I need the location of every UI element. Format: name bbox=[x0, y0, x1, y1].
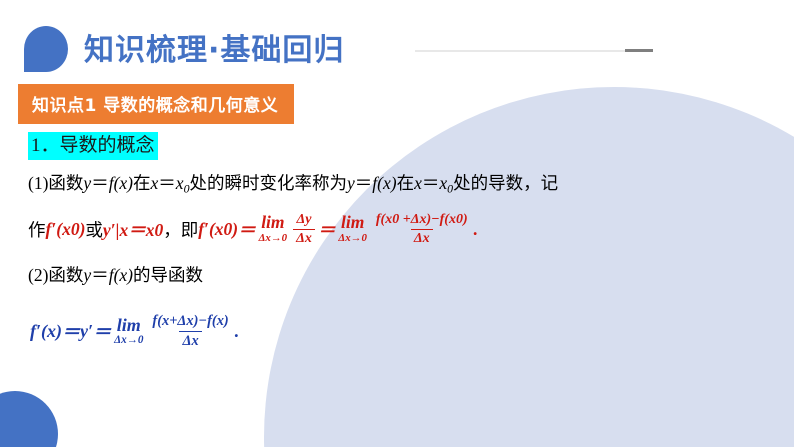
formula-blue-fraction: f(x+Δx)−f(x) Δx bbox=[149, 313, 231, 348]
item1-var-x2: x bbox=[414, 173, 422, 193]
definition-paragraph-1: (1)函数y＝f(x)在x＝x0处的瞬时变化率称为y＝f(x)在x＝x0处的导数… bbox=[28, 170, 794, 198]
page-title: 知识梳理·基础回归 bbox=[84, 25, 344, 69]
formula-red-frac1-den: Δx bbox=[293, 229, 315, 247]
teardrop-bullet-icon bbox=[24, 26, 68, 72]
slide-canvas: 知识梳理·基础回归 知识点1 导数的概念和几何意义 1．导数的概念 (1)函数y… bbox=[0, 0, 794, 447]
formula-blue-frac-num: f(x+Δx)−f(x) bbox=[149, 313, 231, 330]
formula-blue-line: f′(x) ＝ y′ ＝ lim Δx→0 f(x+Δx)−f(x) Δx . bbox=[30, 313, 794, 348]
formula-red-lim-sub-1: Δx→0 bbox=[259, 233, 288, 244]
formula-red-lim-sub-2: Δx→0 bbox=[338, 233, 367, 244]
item1-fn-y2: y bbox=[347, 173, 355, 193]
item1-eq2: ＝ bbox=[158, 173, 176, 193]
formula-red-fraction-1: Δy Δx bbox=[293, 212, 315, 246]
item2-eq1: ＝ bbox=[91, 265, 109, 285]
topic-banner: 知识点1 导数的概念和几何意义 bbox=[18, 84, 294, 124]
item1-eq1: ＝ bbox=[91, 173, 109, 193]
formula-blue-equals-2: ＝ bbox=[93, 318, 111, 344]
item1-var-x0: x bbox=[176, 173, 184, 193]
formula-red-equals: ＝ bbox=[238, 217, 256, 242]
formula-red-lim-op-1: lim bbox=[261, 214, 284, 232]
item2-text-b: 的导函数 bbox=[133, 266, 203, 286]
formula-blue-lim-op: lim bbox=[117, 316, 141, 334]
formula-red-period: . bbox=[474, 219, 478, 240]
formula-blue-period: . bbox=[235, 321, 240, 342]
section-sub-heading: 1．导数的概念 bbox=[28, 132, 158, 160]
item1-prefix: (1) bbox=[28, 173, 48, 193]
item1-text-d: 在 bbox=[397, 174, 415, 194]
formula-red-frac1-num: Δy bbox=[294, 212, 315, 229]
formula-red-fraction-2: f(x0 +Δx)−f(x0) Δx bbox=[373, 212, 471, 246]
formula-red-equals-2: ＝ bbox=[318, 217, 336, 242]
formula-red-lim-op-2: lim bbox=[341, 214, 364, 232]
formula-red-then: 即 bbox=[181, 217, 199, 242]
item2-prefix: (2) bbox=[28, 265, 48, 285]
item1-eq3: ＝ bbox=[355, 173, 373, 193]
formula-red-lead: 作 bbox=[28, 217, 46, 242]
item2-text-a: 函数 bbox=[48, 266, 83, 286]
item1-eq4: ＝ bbox=[422, 173, 440, 193]
item1-paren-x2: (x) bbox=[377, 173, 396, 193]
item1-paren-x: (x) bbox=[114, 173, 133, 193]
definition-paragraph-2: (2)函数y＝f(x)的导函数 bbox=[28, 262, 794, 289]
slide-body: 1．导数的概念 (1)函数y＝f(x)在x＝x0处的瞬时变化率称为y＝f(x)在… bbox=[0, 132, 794, 349]
slide-header: 知识梳理·基础回归 bbox=[0, 0, 794, 80]
item1-var-x02: x bbox=[439, 173, 447, 193]
rule-end-cap-icon bbox=[625, 49, 653, 52]
item1-text-a: 函数 bbox=[48, 174, 83, 194]
formula-blue-limit: lim Δx→0 bbox=[114, 316, 143, 346]
formula-blue-equals-1: ＝ bbox=[62, 318, 80, 344]
item1-text-e: 处的导数，记 bbox=[453, 174, 558, 194]
item2-paren-x: (x) bbox=[114, 265, 133, 285]
formula-red-lhs: f′(x0) bbox=[198, 219, 238, 240]
formula-blue-frac-den: Δx bbox=[179, 331, 201, 349]
formula-red-line: 作 f′(x0) 或 y′|x＝x0 ， 即 f′(x0) ＝ lim Δx→0… bbox=[28, 212, 794, 246]
formula-red-notation-1: f′(x0) bbox=[46, 219, 86, 240]
horizontal-rule-icon bbox=[415, 50, 647, 52]
background-corner-circle-decoration bbox=[0, 391, 58, 447]
item1-text-b: 在 bbox=[133, 174, 151, 194]
formula-red-comma: ， bbox=[163, 217, 181, 242]
formula-red-or: 或 bbox=[85, 217, 103, 242]
formula-red-frac2-den: Δx bbox=[411, 229, 433, 247]
formula-blue-mid: y′ bbox=[80, 321, 93, 342]
formula-red-notation-2: y′|x＝x0 bbox=[103, 217, 163, 242]
item1-text-c: 处的瞬时变化率称为 bbox=[190, 174, 348, 194]
formula-red-limit-2: lim Δx→0 bbox=[338, 214, 367, 243]
formula-blue-lhs: f′(x) bbox=[30, 321, 62, 342]
formula-blue-lim-sub: Δx→0 bbox=[114, 335, 143, 346]
formula-red-limit-1: lim Δx→0 bbox=[259, 214, 288, 243]
formula-red-frac2-num: f(x0 +Δx)−f(x0) bbox=[373, 212, 471, 229]
